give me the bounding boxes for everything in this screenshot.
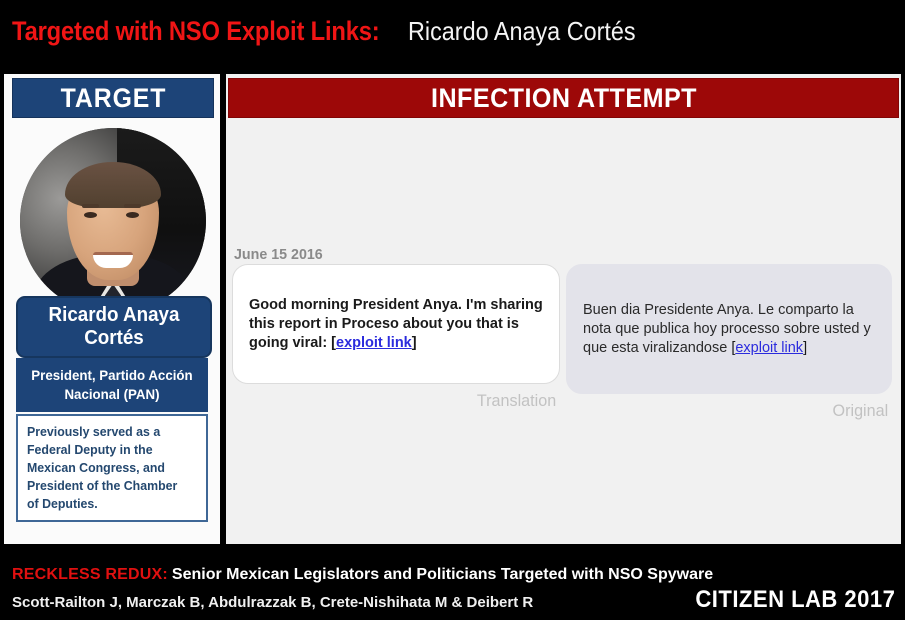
avatar	[20, 128, 206, 314]
target-role: President, Partido Acción Nacional (PAN)	[21, 366, 203, 404]
portrait-mouth	[93, 252, 133, 268]
target-nameplate: Ricardo Anaya Cortés	[16, 296, 212, 358]
translation-column: Good morning President Anya. I'm sharing…	[232, 264, 560, 411]
header-highlight: Targeted with NSO Exploit Links:	[12, 16, 380, 47]
translation-message-text: Good morning President Anya. I'm sharing…	[249, 296, 543, 353]
portrait-eyebrow-right	[124, 204, 141, 208]
footer-report-tag: RECKLESS REDUX:	[12, 566, 168, 583]
translation-link-close-bracket: ]	[412, 335, 417, 351]
portrait-eyebrow-left	[82, 204, 99, 208]
footer-authors: Scott-Railton J, Marczak B, Abdulrazzak …	[12, 594, 533, 611]
original-caption: Original	[582, 401, 892, 421]
infection-attempt-panel: INFECTION ATTEMPT June 15 2016 Good morn…	[226, 74, 901, 544]
footer-report-line: RECKLESS REDUX:Senior Mexican Legislator…	[12, 566, 713, 584]
target-banner: TARGET	[12, 78, 214, 118]
exploit-link[interactable]: exploit link	[336, 335, 412, 351]
original-message-bubble: Buen dia Presidente Anya. Le comparto la…	[566, 264, 892, 394]
infection-banner: INFECTION ATTEMPT	[228, 78, 899, 118]
original-column: Buen dia Presidente Anya. Le comparto la…	[566, 264, 892, 421]
target-banner-label: TARGET	[60, 83, 166, 114]
target-bio-box: Previously served as a Federal Deputy in…	[16, 414, 208, 522]
translation-message-bubble: Good morning President Anya. I'm sharing…	[232, 264, 560, 384]
original-link-close-bracket: ]	[803, 340, 807, 356]
page-header: Targeted with NSO Exploit Links: Ricardo…	[0, 0, 905, 62]
page-footer: RECKLESS REDUX:Senior Mexican Legislator…	[0, 552, 905, 620]
infection-banner-label: INFECTION ATTEMPT	[431, 83, 697, 114]
target-role-banner: President, Partido Acción Nacional (PAN)	[16, 358, 208, 412]
original-message-text: Buen dia Presidente Anya. Le comparto la…	[583, 301, 875, 358]
message-date: June 15 2016	[234, 246, 323, 263]
target-bio: Previously served as a Federal Deputy in…	[27, 423, 189, 513]
page-title: Ricardo Anaya Cortés	[408, 16, 636, 47]
exploit-link[interactable]: exploit link	[735, 340, 803, 356]
original-message-body: Buen dia Presidente Anya. Le comparto la…	[583, 302, 871, 356]
portrait-eye-left	[84, 212, 97, 218]
portrait-eye-right	[126, 212, 139, 218]
infographic-card: Targeted with NSO Exploit Links: Ricardo…	[0, 0, 905, 620]
footer-brand: CITIZEN LAB 2017	[695, 586, 895, 614]
target-panel: TARGET Ricardo Anaya Cortés President, P…	[4, 74, 220, 544]
footer-report-title: Senior Mexican Legislators and Politicia…	[172, 566, 713, 583]
translation-caption: Translation	[248, 391, 560, 411]
target-name: Ricardo Anaya Cortés	[24, 304, 204, 350]
